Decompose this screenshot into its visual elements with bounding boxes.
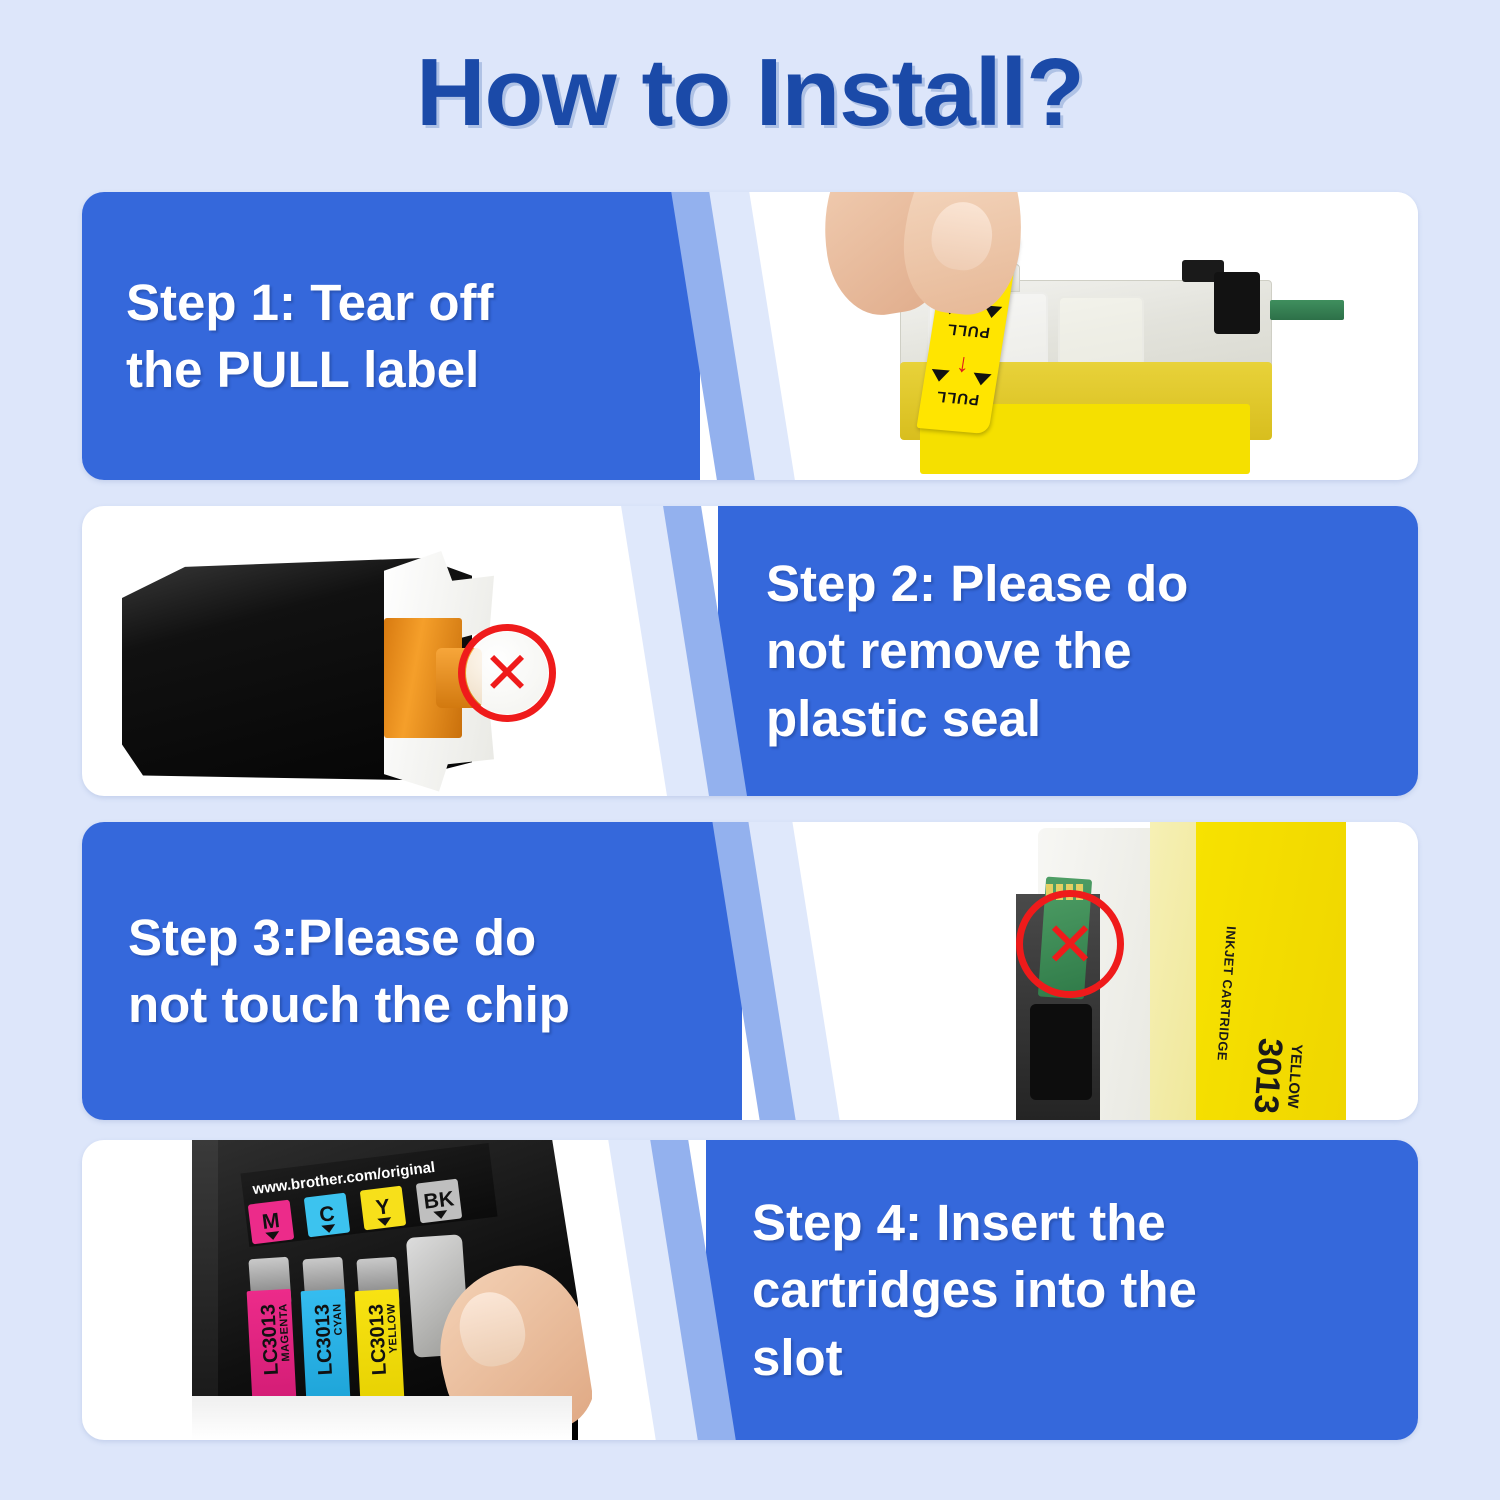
how-to-install-infographic: How to Install? PULL ↓ PULL ↓ xyxy=(0,0,1500,1500)
cartridge-chamber-2 xyxy=(1058,296,1144,366)
printer-side-wall xyxy=(192,1140,218,1440)
slot-badge-yellow: Y xyxy=(360,1186,407,1231)
pull-tab-label-2: PULL xyxy=(945,320,991,341)
slot-badge-magenta: M xyxy=(248,1200,295,1245)
step-3-photo: ✕ INKJET CARTRIDGE 3013 YELLOW xyxy=(982,822,1418,1120)
cartridge-yellow-color: YELLOW xyxy=(385,1303,400,1354)
printer-front-panel xyxy=(192,1396,572,1440)
cartridge-black-block xyxy=(1030,1004,1092,1100)
step-3-caption-panel: Step 3:Please do not touch the chip xyxy=(82,822,742,1120)
step-4-caption-panel: Step 4: Insert the cartridges into the s… xyxy=(706,1140,1418,1440)
cartridge-chip-strip xyxy=(1270,300,1344,320)
step-card-2: ✕ Step 2: Please do not remove the plast… xyxy=(82,506,1418,796)
cartridge-magenta-color: MAGENTA xyxy=(277,1303,292,1362)
step-card-1: PULL ↓ PULL ↓ PULL Step 1: Tear off the … xyxy=(82,192,1418,480)
step-3-caption: Step 3:Please do not touch the chip xyxy=(82,904,580,1039)
step-card-3: ✕ INKJET CARTRIDGE 3013 YELLOW Step 3:Pl… xyxy=(82,822,1418,1120)
step-1-caption: Step 1: Tear off the PULL label xyxy=(82,269,503,404)
step-2-caption: Step 2: Please do not remove the plastic… xyxy=(718,550,1202,752)
step-4-caption: Step 4: Insert the cartridges into the s… xyxy=(706,1189,1209,1391)
slot-badge-cyan: C xyxy=(304,1193,351,1238)
cartridge-black-block xyxy=(1214,272,1260,334)
slot-badge-black: BK xyxy=(416,1179,463,1224)
cartridge-model-text: 3013 xyxy=(1245,1037,1289,1115)
cartridge-cyan-color: CYAN xyxy=(331,1303,345,1336)
no-remove-x-icon: ✕ xyxy=(458,624,556,722)
step-1-caption-panel: Step 1: Tear off the PULL label xyxy=(82,192,700,480)
step-4-photo: www.brother.com/original M C Y BK LC3013… xyxy=(192,1140,592,1440)
step-card-4: www.brother.com/original M C Y BK LC3013… xyxy=(82,1140,1418,1440)
page-title: How to Install? xyxy=(0,38,1500,148)
no-touch-chip-x-icon: ✕ xyxy=(1016,890,1124,998)
pull-tab-label-3: PULL xyxy=(935,388,981,409)
step-2-caption-panel: Step 2: Please do not remove the plastic… xyxy=(718,506,1418,796)
step-1-photo: PULL ↓ PULL ↓ PULL xyxy=(782,192,1418,480)
